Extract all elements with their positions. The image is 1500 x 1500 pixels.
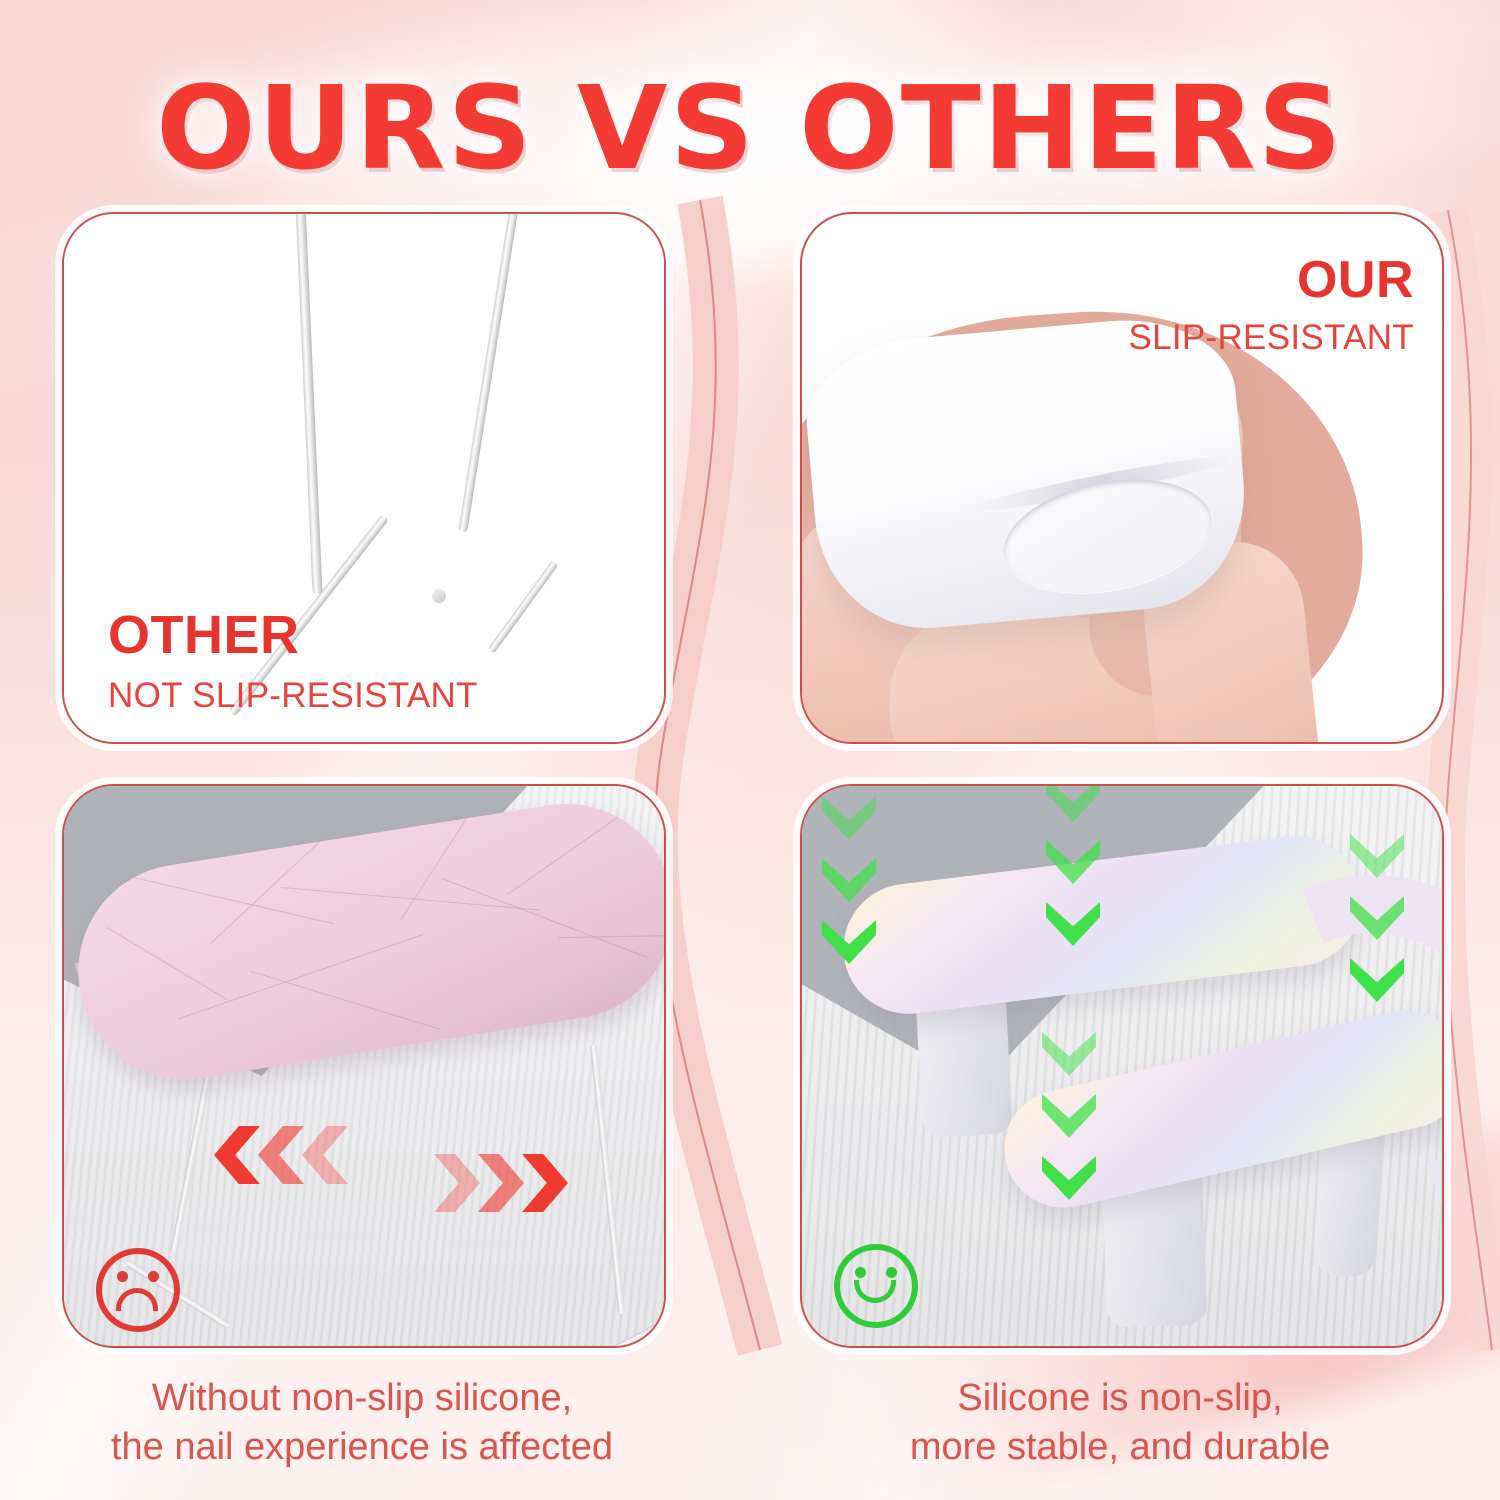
- other-label-block: OTHER NOT SLIP-RESISTANT: [108, 608, 478, 716]
- infographic-root: OURS VS OTHERS OTHER NOT SLIP-RESISTANT …: [0, 0, 1500, 1500]
- wire-joint: [432, 589, 446, 603]
- caption-other: Without non-slip silicone, the nail expe…: [42, 1374, 682, 1471]
- wire-leg-segment: [487, 560, 558, 654]
- our-label-sub: SLIP-RESISTANT: [1128, 318, 1414, 358]
- wire-leg-segment: [295, 212, 322, 594]
- caption-other-line1: Without non-slip silicone,: [42, 1374, 682, 1423]
- other-label-main: OTHER: [108, 608, 478, 662]
- wire-leg-segment: [458, 212, 519, 533]
- caption-other-line2: the nail experience is affected: [42, 1423, 682, 1472]
- other-label-sub: NOT SLIP-RESISTANT: [108, 676, 478, 716]
- happy-face-icon: [834, 1244, 918, 1328]
- silicone-foot-recess: [994, 463, 1221, 609]
- caption-our-line2: more stable, and durable: [800, 1423, 1440, 1472]
- sad-face-icon: [96, 1248, 180, 1332]
- caption-our-line1: Silicone is non-slip,: [800, 1374, 1440, 1423]
- silicone-foot: [800, 311, 1254, 637]
- page-title: OURS VS OTHERS: [0, 72, 1500, 187]
- caption-our: Silicone is non-slip, more stable, and d…: [800, 1374, 1440, 1471]
- our-label-main: OUR: [1128, 254, 1414, 306]
- our-label-block: OUR SLIP-RESISTANT: [1128, 254, 1414, 358]
